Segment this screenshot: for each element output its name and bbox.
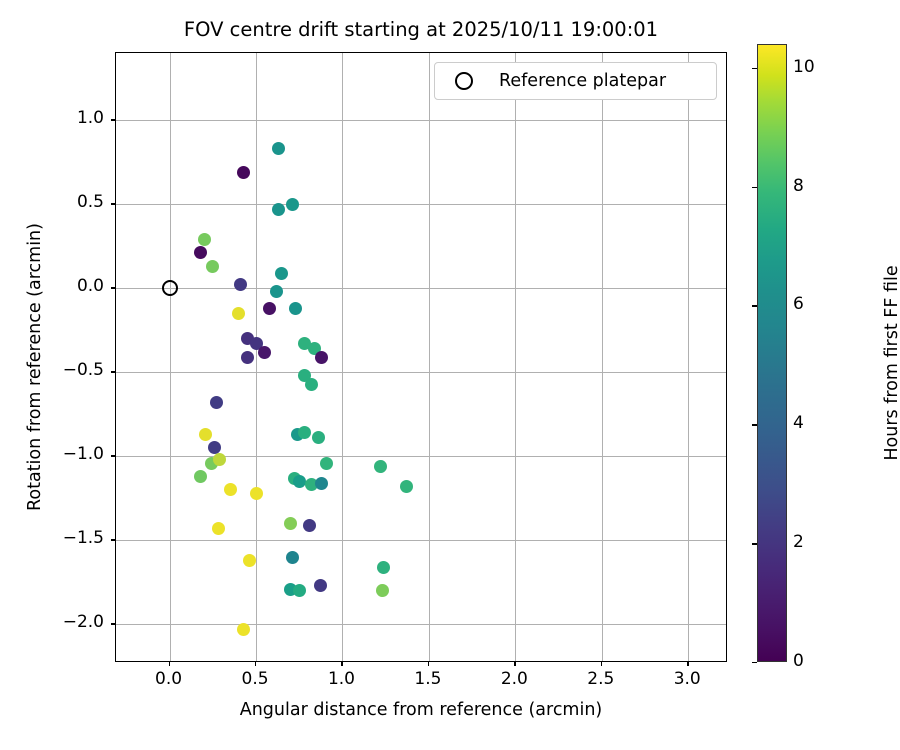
- data-point: [241, 351, 254, 364]
- colorbar-tick-5: [752, 68, 757, 69]
- x-tick-label-4: 2.0: [484, 669, 544, 689]
- figure-canvas: FOV centre drift starting at 2025/10/11 …: [0, 0, 900, 750]
- data-point: [194, 470, 207, 483]
- data-point: [293, 475, 306, 488]
- colorbar-tick-2: [752, 424, 757, 425]
- x-tick-label-2: 1.0: [311, 669, 371, 689]
- data-point: [263, 302, 276, 315]
- x-tick-6: [687, 662, 688, 666]
- data-point: [243, 554, 256, 567]
- data-point: [258, 346, 271, 359]
- chart-title: FOV centre drift starting at 2025/10/11 …: [115, 18, 727, 41]
- y-axis-label: Rotation from reference (arcmin): [25, 62, 45, 672]
- y-tick-4: [111, 455, 115, 456]
- data-point: [293, 584, 306, 597]
- colorbar-tick-label-2: 4: [793, 413, 804, 433]
- data-point: [224, 483, 237, 496]
- x-tick-1: [255, 662, 256, 666]
- colorbar-tick-label-4: 8: [793, 176, 804, 196]
- x-tick-label-3: 1.5: [398, 669, 458, 689]
- data-point: [377, 561, 390, 574]
- y-tick-0: [111, 119, 115, 120]
- reference-platepar-point: [162, 280, 178, 296]
- x-tick-0: [169, 662, 170, 666]
- x-tick-label-6: 3.0: [657, 669, 717, 689]
- reference-platepar-marker-icon: [455, 72, 473, 90]
- colorbar-tick-label-1: 2: [793, 532, 804, 552]
- data-point: [400, 480, 413, 493]
- y-tick-5: [111, 539, 115, 540]
- data-point: [314, 579, 327, 592]
- data-point: [298, 426, 311, 439]
- data-point: [206, 260, 219, 273]
- data-point: [275, 267, 288, 280]
- data-point: [237, 166, 250, 179]
- colorbar-tick-0: [752, 662, 757, 663]
- data-point: [289, 302, 302, 315]
- colorbar-tick-1: [752, 543, 757, 544]
- data-point: [320, 457, 333, 470]
- data-point: [199, 428, 212, 441]
- data-point: [374, 460, 387, 473]
- colorbar-gradient: [757, 44, 787, 662]
- x-tick-2: [341, 662, 342, 666]
- data-point: [376, 584, 389, 597]
- plot-axes: [115, 52, 727, 662]
- colorbar-tick-3: [752, 305, 757, 306]
- x-tick-5: [601, 662, 602, 666]
- legend-entry-label: Reference platepar: [499, 71, 666, 91]
- colorbar-tick-label-0: 0: [793, 651, 804, 671]
- data-point: [234, 278, 247, 291]
- data-point: [284, 517, 297, 530]
- data-point: [232, 307, 245, 320]
- x-axis-label: Angular distance from reference (arcmin): [115, 700, 727, 720]
- data-point: [272, 203, 285, 216]
- data-point: [194, 246, 207, 259]
- data-point: [237, 623, 250, 636]
- x-tick-label-0: 0.0: [139, 669, 199, 689]
- y-tick-1: [111, 203, 115, 204]
- x-tick-label-1: 0.5: [225, 669, 285, 689]
- data-point: [315, 351, 328, 364]
- data-point: [312, 431, 325, 444]
- data-point: [270, 285, 283, 298]
- colorbar-tick-label-5: 10: [793, 57, 815, 77]
- data-layer: [116, 53, 726, 661]
- data-point: [213, 453, 226, 466]
- data-point: [286, 551, 299, 564]
- x-tick-3: [428, 662, 429, 666]
- colorbar-tick-label-3: 6: [793, 294, 804, 314]
- data-point: [305, 378, 318, 391]
- data-point: [250, 487, 263, 500]
- y-tick-3: [111, 371, 115, 372]
- data-point: [315, 477, 328, 490]
- data-point: [303, 519, 316, 532]
- x-tick-label-5: 2.5: [571, 669, 631, 689]
- data-point: [272, 142, 285, 155]
- y-tick-2: [111, 287, 115, 288]
- data-point: [198, 233, 211, 246]
- data-point: [210, 396, 223, 409]
- x-tick-4: [514, 662, 515, 666]
- data-point: [212, 522, 225, 535]
- data-point: [286, 198, 299, 211]
- legend-box[interactable]: Reference platepar: [434, 62, 717, 100]
- colorbar-label: Hours from first FF file: [882, 54, 900, 672]
- y-tick-6: [111, 623, 115, 624]
- colorbar-tick-4: [752, 187, 757, 188]
